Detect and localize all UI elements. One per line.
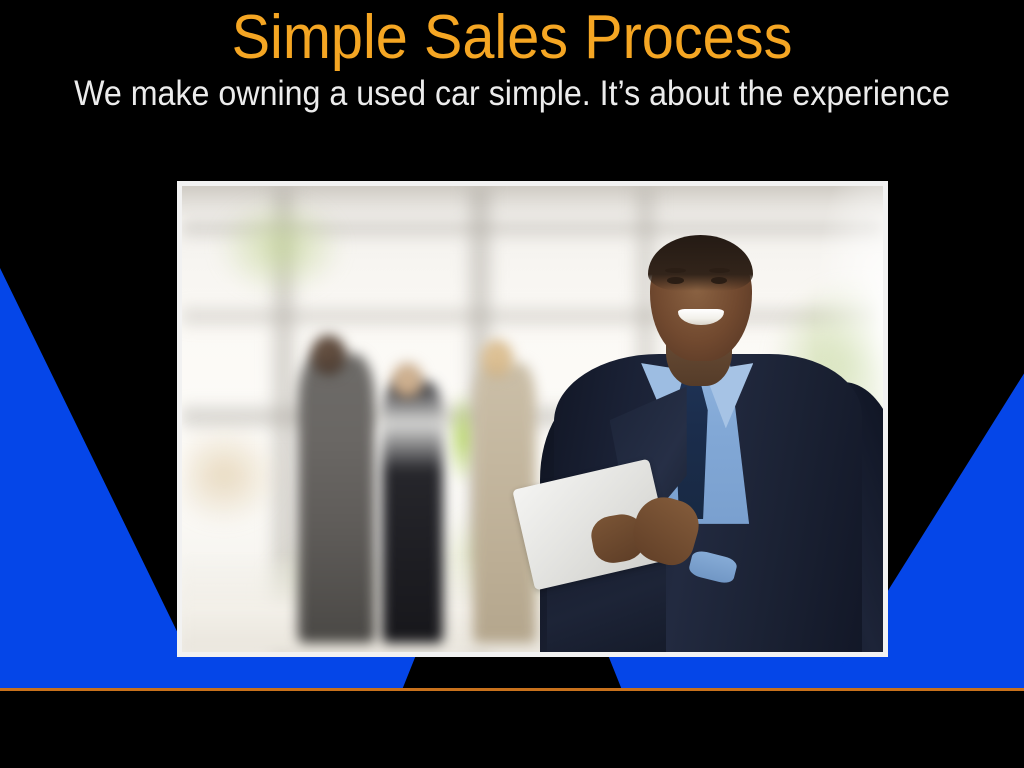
blue-band-left <box>0 268 185 690</box>
background-person-one-head <box>311 335 346 375</box>
foreground-businessman <box>547 186 883 652</box>
background-person-two-head <box>392 363 423 398</box>
background-person-three-head <box>481 340 513 377</box>
background-person-one <box>298 354 375 643</box>
page-title: Simple Sales Process <box>36 0 988 69</box>
page-subtitle: We make owning a used car simple. It’s a… <box>41 69 983 114</box>
hero-photo-frame <box>177 181 888 657</box>
hair <box>648 235 753 291</box>
hero-photo <box>182 186 883 652</box>
header: Simple Sales Process We make owning a us… <box>0 0 1024 150</box>
footer: MIDLANDS Honda Sales (844) 805-1973 See … <box>0 691 1024 768</box>
advertisement-banner: Simple Sales Process We make owning a us… <box>0 0 1024 768</box>
background-person-two <box>382 382 444 643</box>
black-notch <box>402 657 622 690</box>
